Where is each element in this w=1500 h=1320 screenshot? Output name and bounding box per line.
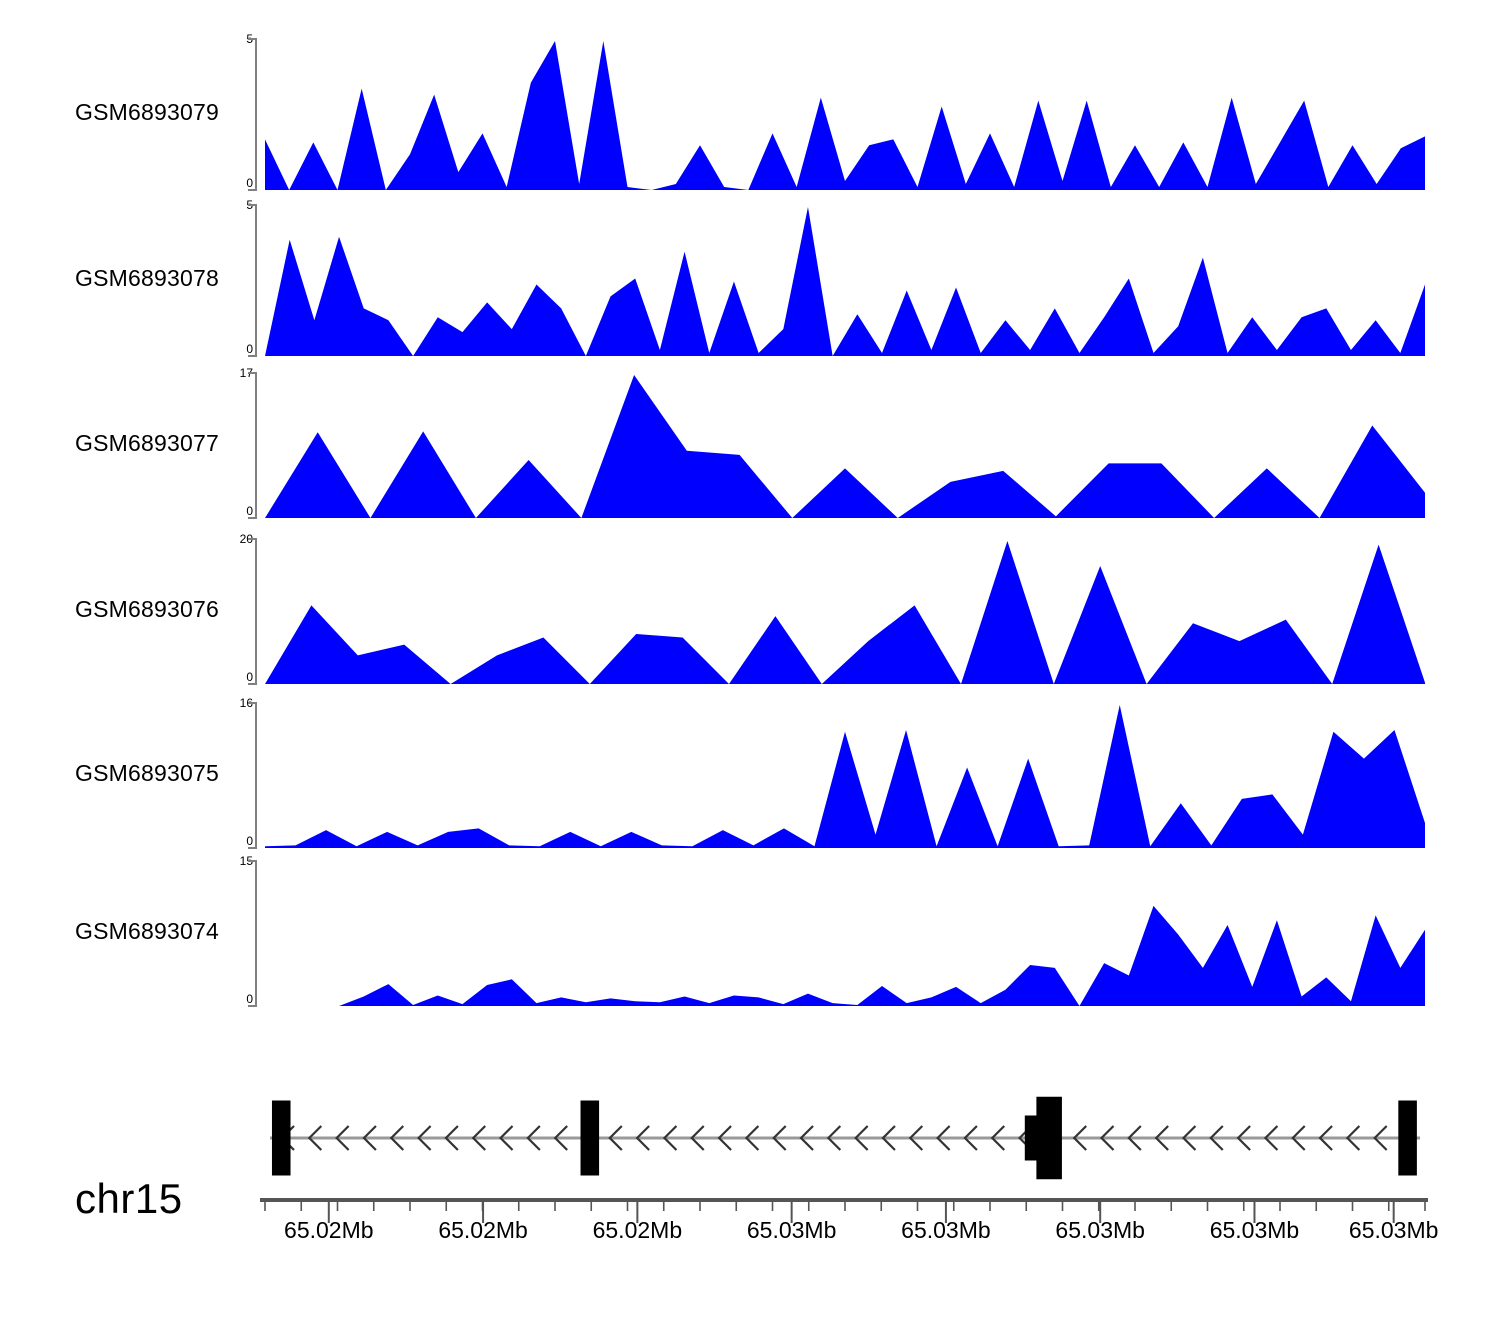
coverage-area-path <box>265 541 1425 684</box>
y-axis-bracket <box>248 373 256 518</box>
genomic-axis: 65.02Mb65.02Mb65.02Mb65.03Mb65.03Mb65.03… <box>0 1185 1500 1305</box>
exon-block-exon <box>1398 1101 1417 1176</box>
coverage-track-gsm6893079: GSM689307950 <box>0 38 1500 190</box>
coverage-area-svg <box>0 372 1500 522</box>
y-axis-bracket <box>248 39 256 190</box>
coverage-track-gsm6893078: GSM689307850 <box>0 204 1500 356</box>
coverage-area-path <box>265 207 1425 356</box>
coverage-track-gsm6893077: GSM6893077170 <box>0 372 1500 518</box>
axis-tick-label: 65.02Mb <box>284 1217 374 1244</box>
axis-tick-label: 65.02Mb <box>593 1217 683 1244</box>
coverage-area-path <box>265 375 1425 518</box>
coverage-area-path <box>265 906 1425 1006</box>
coverage-area-path <box>265 705 1425 848</box>
y-axis-bracket <box>248 703 256 848</box>
coverage-area-svg <box>0 38 1500 194</box>
genome-browser-figure: GSM689307950GSM689307850GSM6893077170GSM… <box>0 0 1500 1320</box>
axis-tick-label: 65.03Mb <box>747 1217 837 1244</box>
coverage-area-path <box>265 41 1425 190</box>
coverage-area-svg <box>0 702 1500 852</box>
y-axis-bracket <box>248 861 256 1006</box>
axis-tick-label: 65.03Mb <box>1349 1217 1439 1244</box>
axis-tick-label: 65.03Mb <box>1210 1217 1300 1244</box>
axis-tick-label: 65.03Mb <box>1055 1217 1145 1244</box>
y-axis-bracket <box>248 539 256 684</box>
y-axis-bracket <box>248 205 256 356</box>
coverage-track-gsm6893074: GSM6893074150 <box>0 860 1500 1006</box>
coverage-area-svg <box>0 538 1500 688</box>
coverage-track-gsm6893076: GSM6893076200 <box>0 538 1500 684</box>
axis-tick-label: 65.03Mb <box>901 1217 991 1244</box>
exon-block-cds <box>1036 1097 1062 1180</box>
exon-block-exon <box>272 1101 291 1176</box>
coverage-area-svg <box>0 860 1500 1010</box>
coverage-area-svg <box>0 204 1500 360</box>
coverage-track-gsm6893075: GSM6893075160 <box>0 702 1500 848</box>
exon-block-exon <box>581 1101 600 1176</box>
axis-tick-label: 65.02Mb <box>438 1217 528 1244</box>
